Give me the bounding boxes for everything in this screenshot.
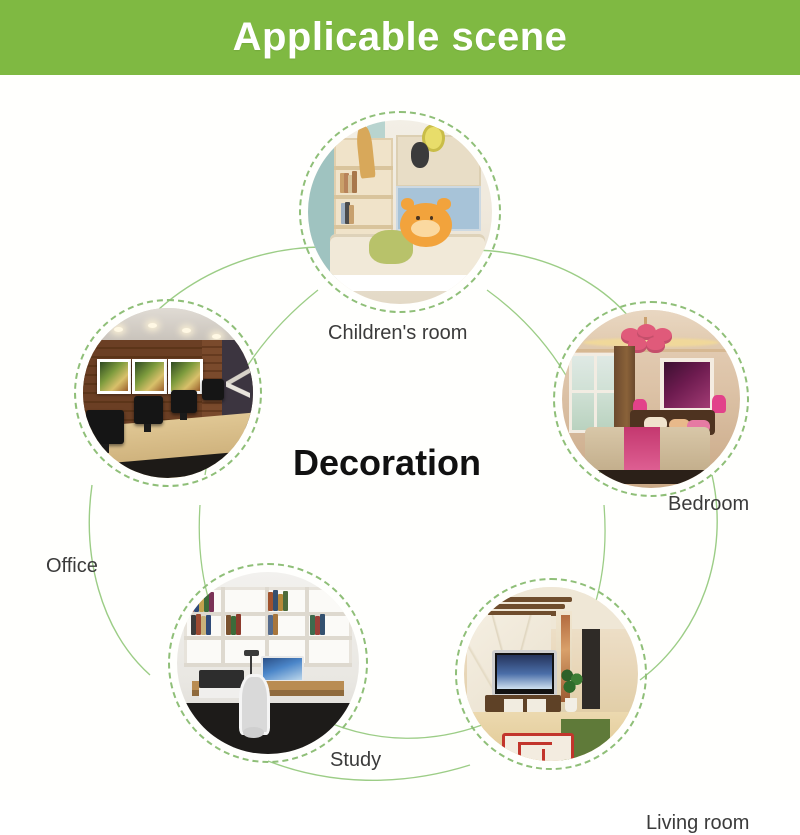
- scene-label-children-room: Children's room: [328, 322, 467, 345]
- scene-photo-children-room: [308, 120, 492, 304]
- center-title: Decoration: [293, 442, 481, 484]
- scene-photo-living-room: [464, 587, 638, 761]
- applicable-scene-infographic: Applicable scene: [0, 0, 800, 800]
- scene-photo-office: [83, 308, 253, 478]
- scene-label-living-room: Living room: [646, 812, 749, 835]
- scene-label-office: Office: [46, 555, 98, 578]
- scene-photo-study: [177, 572, 359, 754]
- scene-label-bedroom: Bedroom: [668, 493, 749, 516]
- scene-label-study: Study: [330, 749, 381, 772]
- scene-diagram: Children's room: [0, 75, 800, 800]
- header-banner: Applicable scene: [0, 0, 800, 75]
- page-title: Applicable scene: [233, 15, 568, 60]
- scene-photo-bedroom: [562, 310, 740, 488]
- arc-study-to-office: [89, 485, 150, 675]
